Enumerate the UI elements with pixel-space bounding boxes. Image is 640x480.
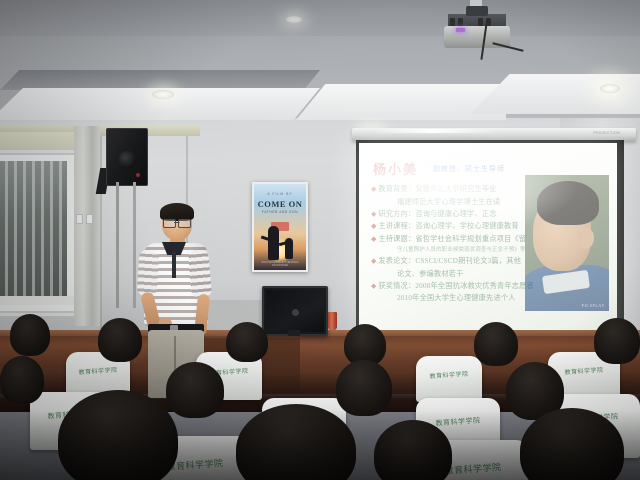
desktop-monitor[interactable] — [262, 286, 328, 336]
ceiling-band — [0, 0, 640, 36]
audience-head — [594, 318, 640, 364]
list-item: 教育科学学院 — [416, 356, 482, 402]
poster-top-line: A FILM BY — [254, 192, 306, 196]
bullet-icon: ◆ — [371, 210, 376, 219]
bullet-text: 咨询与健康心理学、正念 — [415, 210, 496, 218]
projector-led-icon — [456, 28, 465, 32]
slide-presenter-role: 副教授、硕士生导师 — [433, 164, 505, 174]
bullet-icon: ◆ — [371, 185, 376, 194]
bullet-icon: ◆ — [371, 222, 376, 231]
list-item: 福建师范大学心理学博士生在读 — [371, 198, 547, 206]
chair-cover-text: 教育科学学院 — [66, 364, 130, 377]
ceiling-recess — [0, 70, 320, 90]
audience-head — [474, 322, 518, 366]
audience-head — [98, 318, 142, 362]
bullet-label: 获奖情况： — [378, 282, 415, 290]
window-glass — [0, 161, 67, 301]
bullet-text: 论文、参编教材若干 — [397, 270, 464, 278]
list-item: 2010年全国大学生心理健康先进个人 — [371, 294, 547, 302]
chair-cover-text: 教育科学学院 — [416, 368, 482, 382]
poster-figure-adult — [268, 226, 279, 260]
list-item: 论文、参编教材若干 — [371, 270, 547, 278]
bullet-text: 2008年全国抗冰救灾优秀青年志愿者 — [415, 282, 534, 290]
downlight-icon — [152, 90, 174, 99]
list-item: ◆发表论文：CSSCI/CSCD期刊论文3篇，其他 — [371, 257, 547, 266]
audience-head — [58, 390, 178, 480]
portrait-ear — [577, 227, 594, 249]
projection-screen: 杨小美 副教授、硕士生导师 ◆教育背景：安徽师范大学研究生毕业 福建师范大学心理… — [359, 143, 617, 337]
poster-subtitle: FATHER AND SON — [254, 210, 306, 214]
slide-portrait-photo: PICSPLAY — [525, 175, 609, 311]
bullet-text: 2010年全国大学生心理健康先进个人 — [397, 294, 516, 302]
eyeglasses-icon — [163, 219, 191, 226]
bullet-label: 研究方向： — [378, 210, 415, 218]
portrait-hair — [537, 181, 599, 225]
audience-head — [226, 322, 268, 362]
list-item: 守儿童照护人员的职业候徵现状调查与正念干预》等 — [371, 247, 547, 253]
bullet-icon: ◆ — [371, 282, 376, 291]
bullet-text: 咨询心理学、学校心理健康教育 — [415, 222, 518, 230]
bullet-label: 主持课题： — [378, 235, 415, 243]
bullet-text: 福建师范大学心理学博士生在读 — [397, 198, 500, 206]
stand-pole — [116, 182, 119, 308]
poster-figure-child — [285, 238, 293, 259]
bullet-text: 守儿童照护人员的职业候徵现状调查与正念干预》等 — [397, 247, 526, 253]
list-item: ◆获奖情况：2008年全国抗冰救灾优秀青年志愿者 — [371, 282, 547, 291]
monitor-stand — [288, 330, 300, 336]
slide-content: 杨小美 副教授、硕士生导师 ◆教育背景：安徽师范大学研究生毕业 福建师范大学心理… — [359, 143, 617, 337]
presenter-sleeve-left — [136, 249, 159, 296]
cup — [328, 312, 337, 330]
list-item: ◆研究方向：咨询与健康心理学、正念 — [371, 210, 547, 219]
downlight-icon — [600, 84, 620, 93]
wall-speaker — [106, 128, 148, 186]
ceiling — [0, 0, 640, 118]
audience-head — [10, 314, 50, 356]
audience-head — [336, 360, 392, 416]
presenter-placket — [172, 252, 176, 278]
bullet-icon: ◆ — [371, 235, 376, 244]
light-switch[interactable] — [86, 214, 93, 224]
poster-title: COME ON — [254, 199, 306, 209]
case-glare — [372, 129, 492, 133]
bullet-label: 主讲课程： — [378, 222, 415, 230]
ceiling-panel-right — [470, 74, 640, 114]
slide-presenter-name: 杨小美 — [373, 159, 418, 178]
photo-watermark: PICSPLAY — [582, 303, 605, 308]
audience-head — [166, 362, 224, 418]
light-switch[interactable] — [76, 214, 83, 224]
movie-poster: A FILM BY COME ON FATHER AND SON NOW SHO… — [252, 182, 308, 272]
presenter-sleeve-right — [188, 249, 212, 299]
curtain — [74, 126, 100, 326]
poster-footer: NOW SHOWING IN THEATRES NATIONWIDE — [254, 261, 306, 267]
bullet-text: CSSCI/CSCD期刊论文3篇，其他 — [415, 257, 521, 265]
projector-knob — [466, 6, 488, 16]
bullet-label: 教育背景： — [378, 185, 415, 193]
bullet-label: 发表论文： — [378, 257, 415, 265]
downlight-icon — [286, 16, 302, 23]
ceiling-panel-center — [296, 84, 506, 120]
speaker-cone-icon — [118, 151, 136, 169]
bullet-text: 安徽师范大学研究生毕业 — [415, 185, 496, 193]
list-item: ◆主讲课程：咨询心理学、学校心理健康教育 — [371, 222, 547, 231]
speaker-led-icon — [136, 173, 140, 177]
audience-head — [0, 356, 44, 404]
list-item: ◆教育背景：安徽师范大学研究生毕业 — [371, 185, 547, 194]
case-label: PROJECTION — [593, 131, 620, 135]
bullet-text: 省哲学社会科学规划重点项目《留 — [415, 235, 526, 243]
list-item: ◆主持课题：省哲学社会科学规划重点项目《留 — [371, 235, 547, 244]
bullet-icon: ◆ — [371, 257, 376, 266]
slide-bullet-list: ◆教育背景：安徽师范大学研究生毕业 福建师范大学心理学博士生在读 ◆研究方向：咨… — [371, 185, 547, 306]
lecture-hall-photo: A FILM BY COME ON FATHER AND SON NOW SHO… — [0, 0, 640, 480]
